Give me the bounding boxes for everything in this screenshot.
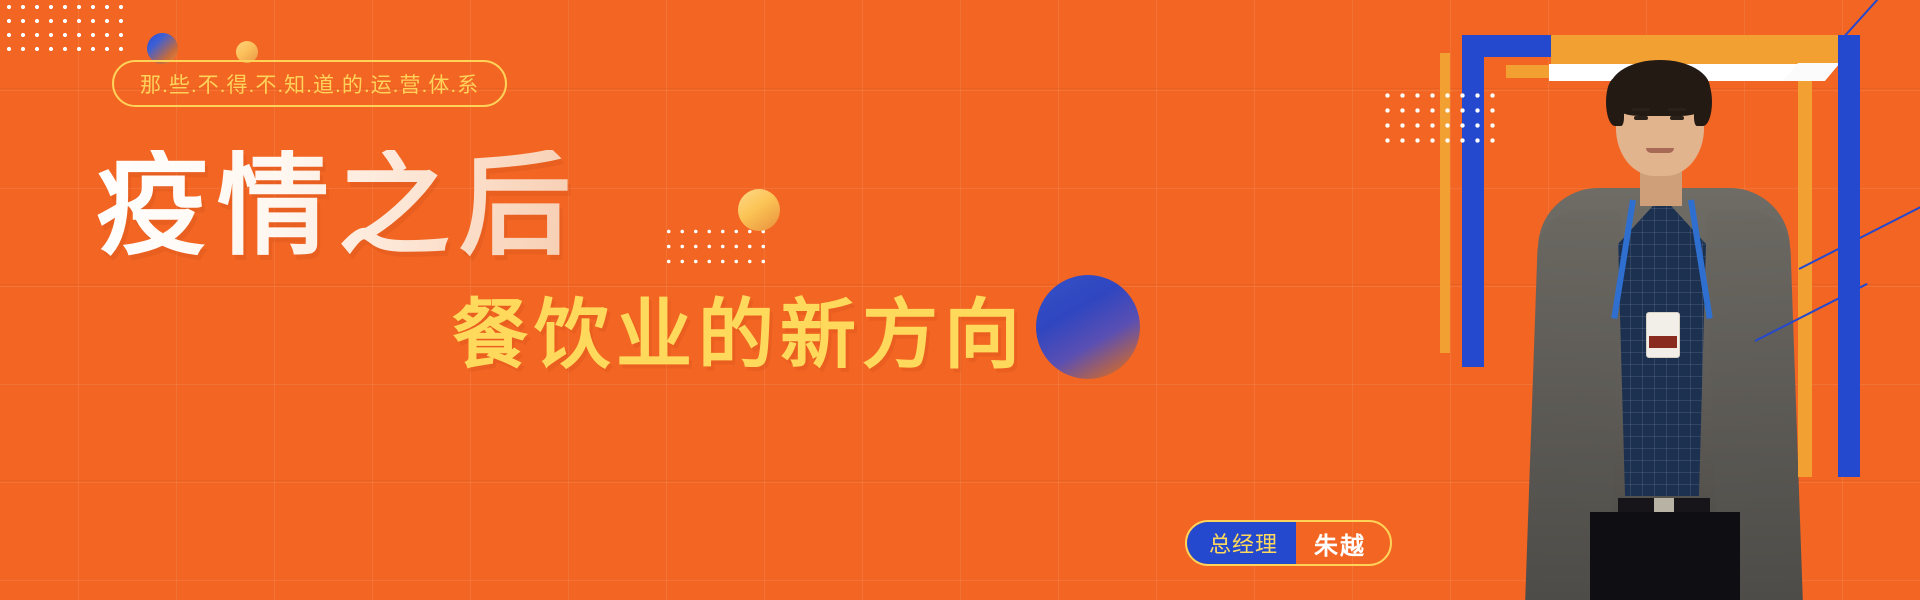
photo-eye-right bbox=[1670, 116, 1684, 120]
photo-hair-left bbox=[1606, 78, 1624, 126]
photo-frame-orange-right bbox=[1798, 65, 1812, 477]
photo-trousers bbox=[1590, 512, 1740, 600]
subtitle-pill: 那.些.不.得.不.知.道.的.运.营.体.系 bbox=[112, 60, 507, 107]
headline-line-2: 餐饮业的新方向 bbox=[452, 298, 1026, 374]
diagonal-line-3 bbox=[1841, 0, 1904, 40]
headline-line-1: 疫情之后 bbox=[96, 150, 580, 262]
photo-hair-right bbox=[1694, 78, 1712, 126]
speaker-name: 朱越 bbox=[1296, 522, 1390, 564]
photo-brow-left bbox=[1632, 108, 1650, 111]
photo-frame-blue-right bbox=[1838, 35, 1860, 477]
speaker-role: 总经理 bbox=[1187, 522, 1296, 564]
photo-id-card bbox=[1646, 312, 1680, 358]
gradient-sphere-icon-gold bbox=[738, 189, 780, 231]
banner-root: 那.些.不.得.不.知.道.的.运.营.体.系 疫情之后 餐饮业的新方向 总经理… bbox=[0, 0, 1920, 600]
speaker-photo bbox=[1440, 60, 1840, 600]
photo-mouth bbox=[1646, 148, 1674, 153]
photo-eye-left bbox=[1634, 116, 1648, 120]
dot-grid-icon-top-left bbox=[0, 0, 126, 54]
photo-brow-right bbox=[1668, 108, 1686, 111]
gradient-sphere-icon-large-blue bbox=[1036, 275, 1140, 379]
speaker-badge: 总经理 朱越 bbox=[1185, 520, 1392, 566]
photo-id-card-strip bbox=[1649, 336, 1677, 348]
subtitle-text: 那.些.不.得.不.知.道.的.运.营.体.系 bbox=[140, 69, 479, 99]
